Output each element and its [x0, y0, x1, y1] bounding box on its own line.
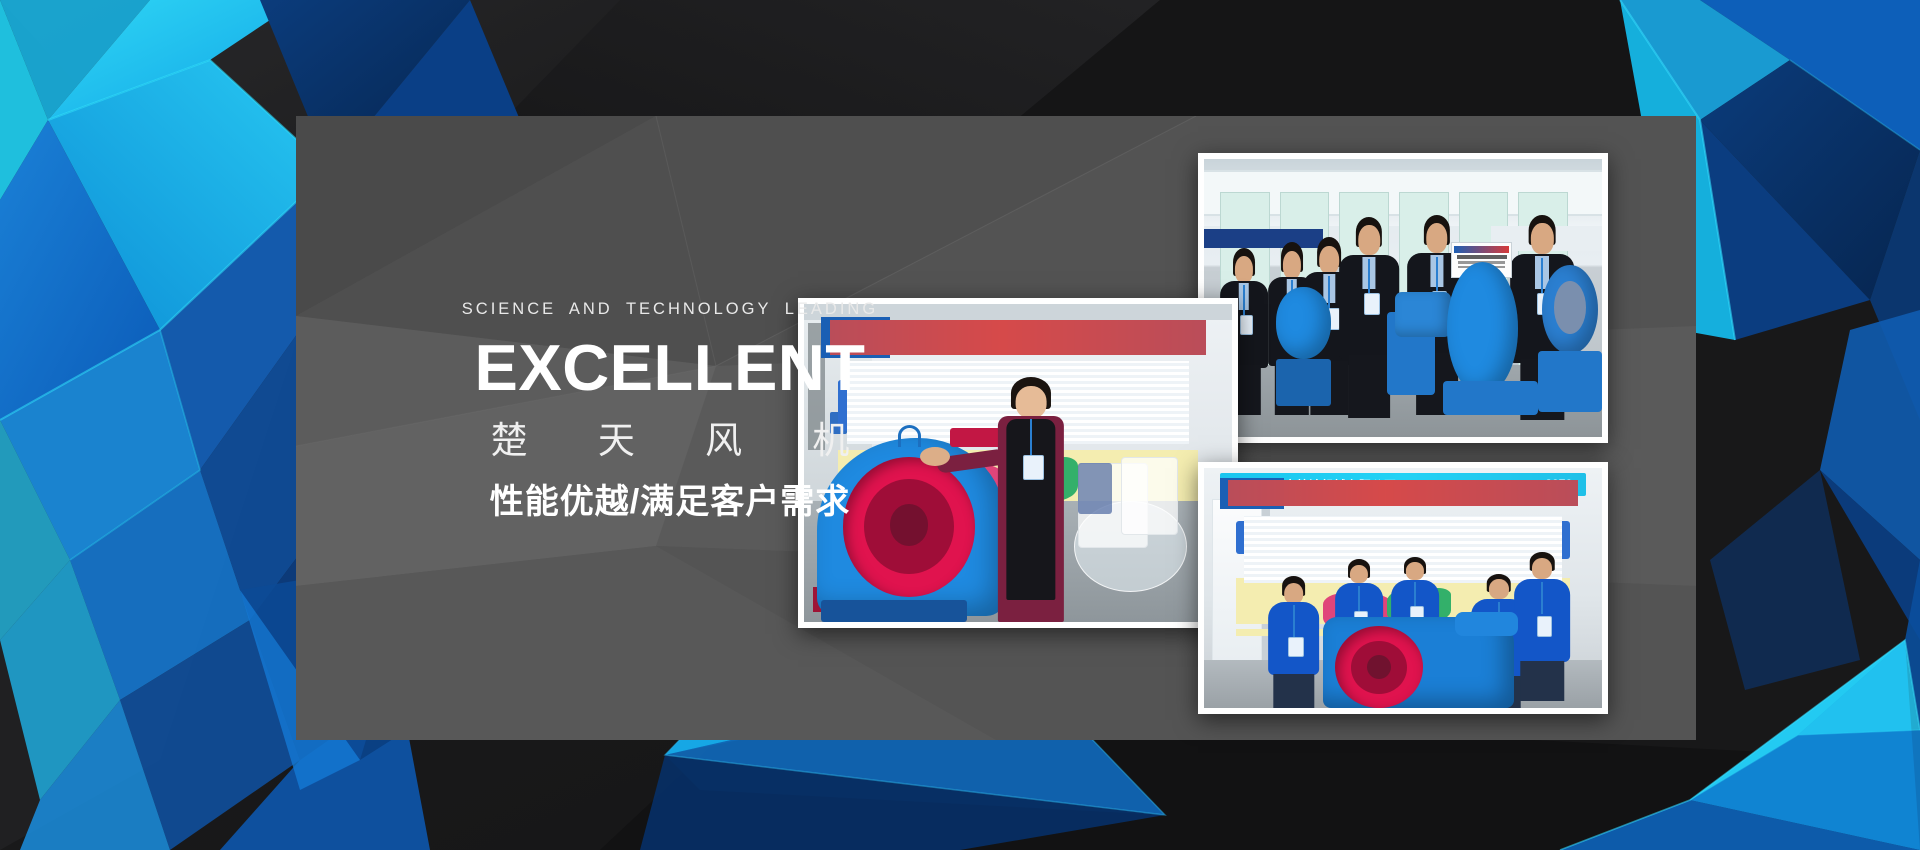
- photo-team-in-blue-polos: 监利县楚大粮油机械有限公司 3076: [1198, 462, 1608, 714]
- folding-chair: [1121, 457, 1179, 535]
- hero-banner: SCIENCE AND TECHNOLOGY LEADING EXCELLENT…: [0, 0, 1920, 850]
- hero-company-name-cn: 楚 天 风 机: [330, 422, 1010, 459]
- hero-tagline-cn: 性能优越/满足客户需求: [330, 485, 1010, 519]
- hero-eyebrow: SCIENCE AND TECHNOLOGY LEADING: [330, 300, 1010, 319]
- hero-text-block: SCIENCE AND TECHNOLOGY LEADING EXCELLENT…: [330, 300, 1010, 519]
- photo-team-in-suits: [1198, 153, 1608, 443]
- hero-headline: EXCELLENT: [330, 335, 1010, 400]
